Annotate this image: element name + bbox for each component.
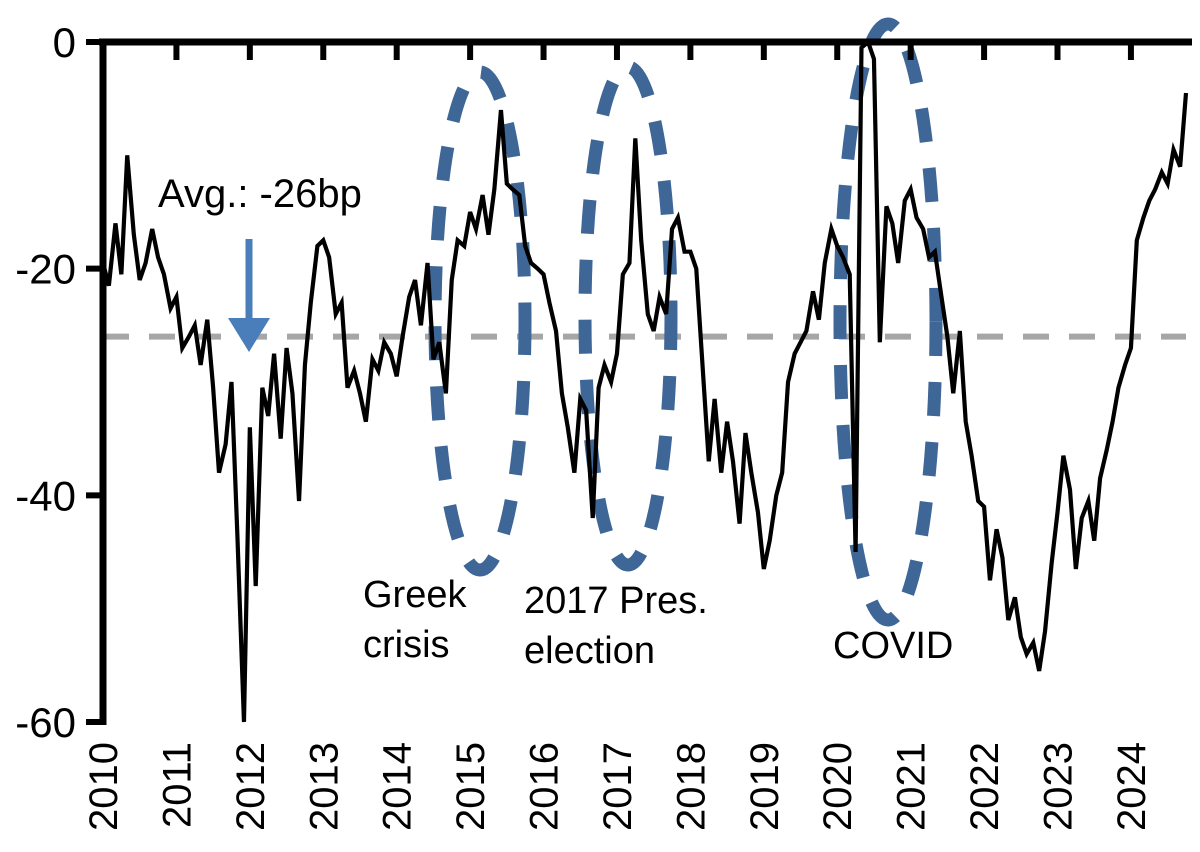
greek-crisis-label-line2: crisis [363, 624, 450, 666]
y-tick-label--20: -20 [15, 246, 76, 293]
covid-label: COVID [833, 625, 953, 667]
x-tick-label-2016: 2016 [523, 742, 567, 831]
y-tick-label--60: -60 [15, 699, 76, 746]
x-tick-label-2022: 2022 [963, 742, 1007, 831]
x-tick-label-2018: 2018 [669, 742, 713, 831]
x-tick-label-2013: 2013 [302, 742, 346, 831]
y-tick-label--40: -40 [15, 472, 76, 519]
chart-background [0, 0, 1200, 852]
greek-crisis-label-line1: Greek [363, 574, 467, 616]
x-tick-label-2015: 2015 [449, 742, 493, 831]
x-tick-label-2020: 2020 [816, 742, 860, 831]
x-tick-label-2011: 2011 [155, 742, 199, 828]
x-tick-label-2012: 2012 [229, 742, 273, 831]
x-tick-label-2021: 2021 [890, 742, 934, 831]
avg-callout-label: Avg.: -26bp [158, 172, 362, 216]
x-tick-label-2010: 2010 [82, 742, 126, 831]
x-tick-label-2024: 2024 [1110, 742, 1154, 831]
y-tick-label-0: 0 [53, 19, 76, 66]
x-tick-label-2017: 2017 [596, 742, 640, 831]
x-tick-label-2019: 2019 [743, 742, 787, 831]
x-tick-label-2023: 2023 [1037, 742, 1081, 831]
x-tick-label-2014: 2014 [376, 742, 420, 831]
x-axis-tick-labels: 2010201120122013201420152016201720182019… [82, 742, 1154, 831]
pres-election-label-line2: election [524, 630, 655, 672]
line-chart: 0-20-40-60 20102011201220132014201520162… [0, 0, 1200, 852]
pres-election-label-line1: 2017 Pres. [524, 580, 708, 622]
chart-container: 0-20-40-60 20102011201220132014201520162… [0, 0, 1200, 852]
